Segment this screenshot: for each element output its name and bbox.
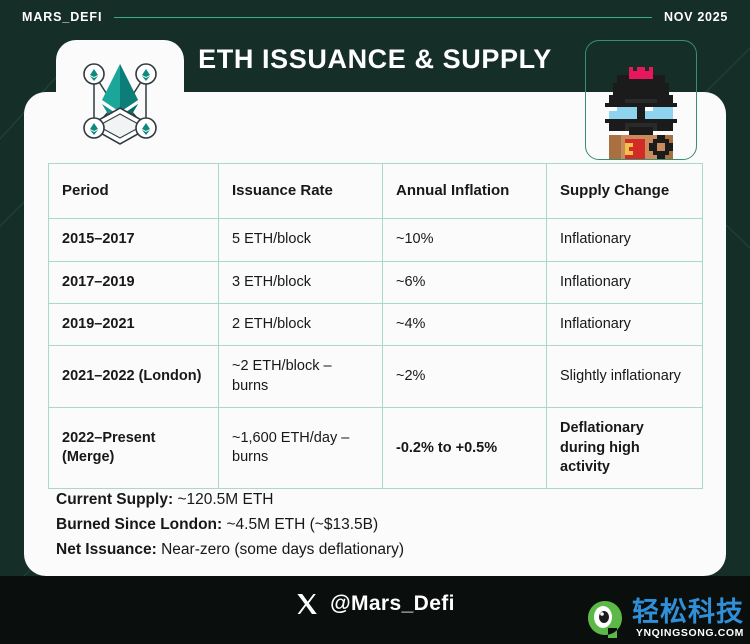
watermark-cn: 轻松科技 (632, 599, 744, 626)
column-header-annual-inflation: Annual Inflation (383, 164, 547, 219)
column-header-period: Period (49, 164, 219, 219)
cell-issuance: ~2 ETH/block – burns (219, 346, 383, 408)
ethereum-logo-tile (56, 40, 184, 160)
watermark: 轻松科技 YNQINGSONG.COM (584, 598, 744, 640)
cell-period: 2015–2017 (49, 219, 219, 261)
green-eye-logo-icon (584, 598, 626, 640)
cell-supply: Inflationary (547, 219, 703, 261)
table-row: 2022–Present (Merge) ~1,600 ETH/day – bu… (49, 408, 703, 489)
summary-line: Current Supply: ~120.5M ETH (56, 487, 404, 512)
cell-inflation: ~6% (383, 261, 547, 303)
column-header-supply-change: Supply Change (547, 164, 703, 219)
cell-period: 2021–2022 (London) (49, 346, 219, 408)
cell-period: 2017–2019 (49, 261, 219, 303)
cell-supply: Inflationary (547, 303, 703, 345)
summary-label: Net Issuance: (56, 541, 157, 558)
cell-supply: Slightly inflationary (547, 346, 703, 408)
top-bar: MARS_DEFI NOV 2025 (0, 0, 750, 34)
infographic-poster: MARS_DEFI NOV 2025 ETH ISSUANCE & SUPPLY (0, 0, 750, 644)
cell-supply: Inflationary (547, 261, 703, 303)
brand-tag: MARS_DEFI (22, 10, 102, 24)
date-tag: NOV 2025 (664, 10, 728, 24)
handle-text: @Mars_Defi (330, 592, 455, 616)
x-logo-icon (295, 592, 319, 616)
issuance-table-wrap: Period Issuance Rate Annual Inflation Su… (48, 163, 702, 489)
cell-inflation: ~10% (383, 219, 547, 261)
ethereum-network-icon (68, 50, 172, 150)
header-divider-rule (114, 16, 652, 19)
summary-line: Burned Since London: ~4.5M ETH (~$13.5B) (56, 512, 404, 537)
table-row: 2015–2017 5 ETH/block ~10% Inflationary (49, 219, 703, 261)
cell-issuance: 5 ETH/block (219, 219, 383, 261)
cell-issuance: ~1,600 ETH/day – burns (219, 408, 383, 489)
summary-line: Net Issuance: Near-zero (some days defla… (56, 537, 404, 562)
watermark-en: YNQINGSONG.COM (632, 628, 744, 639)
cell-issuance: 3 ETH/block (219, 261, 383, 303)
table-header-row: Period Issuance Rate Annual Inflation Su… (49, 164, 703, 219)
summary-value: Near-zero (some days deflationary) (161, 541, 404, 558)
cell-inflation: -0.2% to +0.5% (383, 408, 547, 489)
cell-period: 2022–Present (Merge) (49, 408, 219, 489)
table-row: 2021–2022 (London) ~2 ETH/block – burns … (49, 346, 703, 408)
cryptopunk-avatar-icon (593, 63, 689, 159)
summary-label: Burned Since London: (56, 516, 222, 533)
summary-stats: Current Supply: ~120.5M ETH Burned Since… (56, 487, 404, 562)
summary-value: ~120.5M ETH (177, 491, 273, 508)
cell-issuance: 2 ETH/block (219, 303, 383, 345)
table-row: 2017–2019 3 ETH/block ~6% Inflationary (49, 261, 703, 303)
summary-value: ~4.5M ETH (~$13.5B) (227, 516, 379, 533)
avatar-tile (585, 40, 697, 160)
table-row: 2019–2021 2 ETH/block ~4% Inflationary (49, 303, 703, 345)
eth-issuance-table: Period Issuance Rate Annual Inflation Su… (48, 163, 703, 489)
cell-inflation: ~2% (383, 346, 547, 408)
cell-period: 2019–2021 (49, 303, 219, 345)
column-header-issuance-rate: Issuance Rate (219, 164, 383, 219)
footer-bar: @Mars_Defi 轻松科技 YNQINGSONG.COM (0, 576, 750, 644)
cell-inflation: ~4% (383, 303, 547, 345)
summary-label: Current Supply: (56, 491, 173, 508)
watermark-text: 轻松科技 YNQINGSONG.COM (632, 599, 744, 639)
cell-supply: Deflationary during high activity (547, 408, 703, 489)
